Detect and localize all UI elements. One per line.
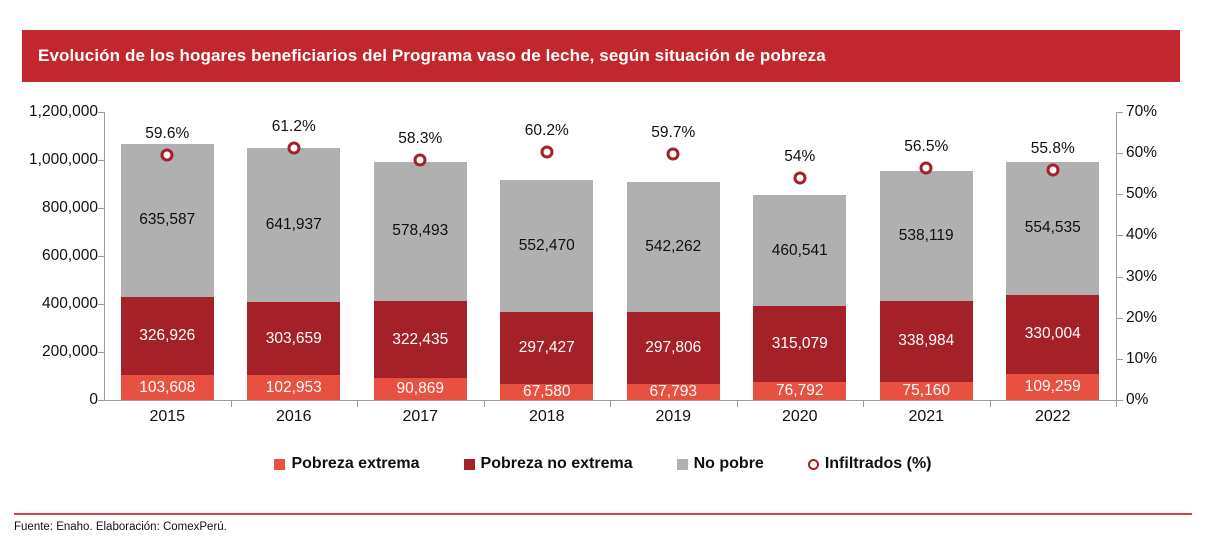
infiltrados-marker[interactable] bbox=[287, 142, 300, 155]
legend-swatch-icon bbox=[464, 459, 475, 470]
legend-item[interactable]: Infiltrados (%) bbox=[808, 455, 932, 473]
bar-segment-label: 635,587 bbox=[139, 211, 195, 229]
bar-segment-no-pobre[interactable]: 641,937 bbox=[247, 148, 340, 302]
y-axis-left-label: 400,000 bbox=[42, 295, 98, 313]
bar-segment-no-pobre[interactable]: 460,541 bbox=[753, 195, 846, 306]
x-axis-label: 2016 bbox=[276, 408, 312, 426]
y-axis-right-tick bbox=[1117, 235, 1123, 236]
footer-divider bbox=[14, 513, 1192, 515]
bar-segment-pobreza-extrema[interactable]: 76,792 bbox=[753, 382, 846, 400]
infiltrados-marker[interactable] bbox=[920, 161, 933, 174]
bar-segment-pobreza-no-extrema[interactable]: 303,659 bbox=[247, 302, 340, 375]
bar-segment-pobreza-extrema[interactable]: 102,953 bbox=[247, 375, 340, 400]
x-axis-label: 2022 bbox=[1035, 408, 1071, 426]
bar-segment-label: 297,806 bbox=[645, 339, 701, 357]
y-axis-right-tick bbox=[1117, 194, 1123, 195]
infiltrados-value-label: 59.7% bbox=[651, 124, 695, 142]
x-axis-tick bbox=[357, 400, 358, 407]
legend-swatch-icon bbox=[274, 459, 285, 470]
bar-segment-label: 338,984 bbox=[898, 332, 954, 350]
y-axis-right-label: 40% bbox=[1126, 226, 1157, 244]
legend-label: Pobreza no extrema bbox=[481, 455, 633, 473]
bar-segment-label: 103,608 bbox=[139, 379, 195, 397]
x-axis-tick bbox=[1116, 400, 1117, 407]
legend-label: Infiltrados (%) bbox=[825, 455, 932, 473]
bar-segment-label: 578,493 bbox=[392, 222, 448, 240]
infiltrados-value-label: 56.5% bbox=[904, 138, 948, 156]
bar-segment-pobreza-no-extrema[interactable]: 330,004 bbox=[1006, 295, 1099, 374]
y-axis-left-label: 800,000 bbox=[42, 199, 98, 217]
bar-segment-label: 552,470 bbox=[519, 237, 575, 255]
y-axis-right-tick bbox=[1117, 112, 1123, 113]
y-axis-left-label: 0 bbox=[89, 391, 98, 409]
bar-segment-label: 297,427 bbox=[519, 339, 575, 357]
bar-segment-no-pobre[interactable]: 552,470 bbox=[500, 180, 593, 313]
x-axis-label: 2021 bbox=[908, 408, 944, 426]
y-axis-left-label: 1,200,000 bbox=[29, 103, 98, 121]
legend-swatch-icon bbox=[677, 459, 688, 470]
x-axis-label: 2018 bbox=[529, 408, 565, 426]
legend-label: Pobreza extrema bbox=[291, 455, 419, 473]
y-axis-right-label: 70% bbox=[1126, 103, 1157, 121]
infiltrados-marker[interactable] bbox=[161, 148, 174, 161]
bar-segment-pobreza-extrema[interactable]: 103,608 bbox=[121, 375, 214, 400]
bar-segment-label: 326,926 bbox=[139, 327, 195, 345]
y-axis-right-tick bbox=[1117, 153, 1123, 154]
bar-segment-label: 109,259 bbox=[1025, 378, 1081, 396]
bar-segment-pobreza-no-extrema[interactable]: 315,079 bbox=[753, 306, 846, 382]
y-axis-left-label: 1,000,000 bbox=[29, 151, 98, 169]
bar-segment-label: 542,262 bbox=[645, 238, 701, 256]
bar-segment-label: 538,119 bbox=[899, 227, 954, 245]
y-axis-left-label: 200,000 bbox=[42, 343, 98, 361]
page-title: Evolución de los hogares beneficiarios d… bbox=[38, 46, 826, 66]
infiltrados-value-label: 55.8% bbox=[1031, 140, 1075, 158]
infiltrados-value-label: 54% bbox=[784, 148, 815, 166]
y-axis-right-label: 0% bbox=[1126, 391, 1148, 409]
x-axis-tick bbox=[484, 400, 485, 407]
bar-segment-label: 67,793 bbox=[650, 383, 697, 401]
x-axis-label: 2019 bbox=[655, 408, 691, 426]
y-axis-right-label: 20% bbox=[1126, 309, 1157, 327]
infiltrados-value-label: 60.2% bbox=[525, 122, 569, 140]
bar-segment-pobreza-extrema[interactable]: 67,580 bbox=[500, 384, 593, 400]
bar-segment-pobreza-extrema[interactable]: 90,869 bbox=[374, 378, 467, 400]
bar-segment-label: 67,580 bbox=[523, 383, 570, 401]
bar-segment-pobreza-extrema[interactable]: 109,259 bbox=[1006, 374, 1099, 400]
infiltrados-marker[interactable] bbox=[793, 171, 806, 184]
bar-segment-label: 554,535 bbox=[1025, 219, 1081, 237]
y-axis-right-tick bbox=[1117, 400, 1123, 401]
x-axis-tick bbox=[863, 400, 864, 407]
bar-segment-no-pobre[interactable]: 542,262 bbox=[627, 182, 720, 312]
infiltrados-value-label: 59.6% bbox=[145, 125, 189, 143]
bar-segment-label: 102,953 bbox=[266, 379, 322, 397]
plot-area: 103,608326,926635,587102,953303,659641,9… bbox=[104, 112, 1116, 400]
bar-segment-label: 315,079 bbox=[772, 335, 828, 353]
bar-segment-label: 90,869 bbox=[397, 380, 444, 398]
x-axis-label: 2015 bbox=[149, 408, 185, 426]
y-axis-right-label: 10% bbox=[1126, 350, 1157, 368]
bar-segment-pobreza-extrema[interactable]: 67,793 bbox=[627, 384, 720, 400]
legend-item[interactable]: Pobreza extrema bbox=[274, 455, 419, 473]
bar-segment-no-pobre[interactable]: 554,535 bbox=[1006, 162, 1099, 295]
infiltrados-value-label: 58.3% bbox=[398, 130, 442, 148]
bar-segment-no-pobre[interactable]: 578,493 bbox=[374, 162, 467, 301]
legend-label: No pobre bbox=[694, 455, 764, 473]
chart-legend: Pobreza extremaPobreza no extremaNo pobr… bbox=[0, 455, 1206, 473]
y-axis-right-tick bbox=[1117, 277, 1123, 278]
y-axis-right-tick bbox=[1117, 359, 1123, 360]
legend-item[interactable]: No pobre bbox=[677, 455, 764, 473]
title-banner: Evolución de los hogares beneficiarios d… bbox=[22, 30, 1180, 82]
infiltrados-marker[interactable] bbox=[414, 154, 427, 167]
y-axis-right-label: 30% bbox=[1126, 268, 1157, 286]
y-axis-right-line bbox=[1116, 112, 1117, 401]
bar-segment-no-pobre[interactable]: 635,587 bbox=[121, 144, 214, 297]
y-axis-right-tick bbox=[1117, 318, 1123, 319]
x-axis-tick bbox=[737, 400, 738, 407]
bar-segment-label: 641,937 bbox=[266, 216, 322, 234]
bar-segment-no-pobre[interactable]: 538,119 bbox=[880, 171, 973, 300]
x-axis-tick bbox=[231, 400, 232, 407]
infiltrados-marker[interactable] bbox=[1046, 164, 1059, 177]
bar-segment-pobreza-extrema[interactable]: 75,160 bbox=[880, 382, 973, 400]
legend-item[interactable]: Pobreza no extrema bbox=[464, 455, 633, 473]
bar-segment-pobreza-no-extrema[interactable]: 338,984 bbox=[880, 301, 973, 382]
bar-segment-pobreza-no-extrema[interactable]: 297,806 bbox=[627, 312, 720, 383]
infiltrados-marker[interactable] bbox=[540, 146, 553, 159]
x-axis-tick bbox=[990, 400, 991, 407]
infiltrados-marker[interactable] bbox=[667, 148, 680, 161]
y-axis-left-label: 600,000 bbox=[42, 247, 98, 265]
bar-segment-pobreza-no-extrema[interactable]: 297,427 bbox=[500, 312, 593, 383]
y-axis-right-label: 60% bbox=[1126, 144, 1157, 162]
infiltrados-value-label: 61.2% bbox=[272, 118, 316, 136]
x-axis-label: 2017 bbox=[402, 408, 438, 426]
bar-segment-label: 322,435 bbox=[392, 331, 448, 349]
bar-segment-label: 303,659 bbox=[266, 330, 322, 348]
chart-page: Evolución de los hogares beneficiarios d… bbox=[0, 0, 1206, 551]
legend-ring-icon bbox=[808, 459, 819, 470]
y-axis-right-label: 50% bbox=[1126, 185, 1157, 203]
source-note: Fuente: Enaho. Elaboración: ComexPerú. bbox=[14, 521, 227, 533]
y-axis-left-tick bbox=[98, 400, 104, 401]
bar-group[interactable]: 102,953303,659641,937 bbox=[247, 112, 340, 400]
bar-segment-pobreza-no-extrema[interactable]: 322,435 bbox=[374, 301, 467, 378]
x-axis-label: 2020 bbox=[782, 408, 818, 426]
bar-segment-label: 330,004 bbox=[1025, 325, 1081, 343]
bar-segment-pobreza-no-extrema[interactable]: 326,926 bbox=[121, 297, 214, 375]
bar-segment-label: 76,792 bbox=[776, 382, 823, 400]
bar-segment-label: 75,160 bbox=[903, 382, 950, 400]
chart-container: 0200,000400,000600,000800,0001,000,0001,… bbox=[0, 100, 1206, 445]
bar-segment-label: 460,541 bbox=[772, 242, 828, 260]
x-axis-tick bbox=[610, 400, 611, 407]
